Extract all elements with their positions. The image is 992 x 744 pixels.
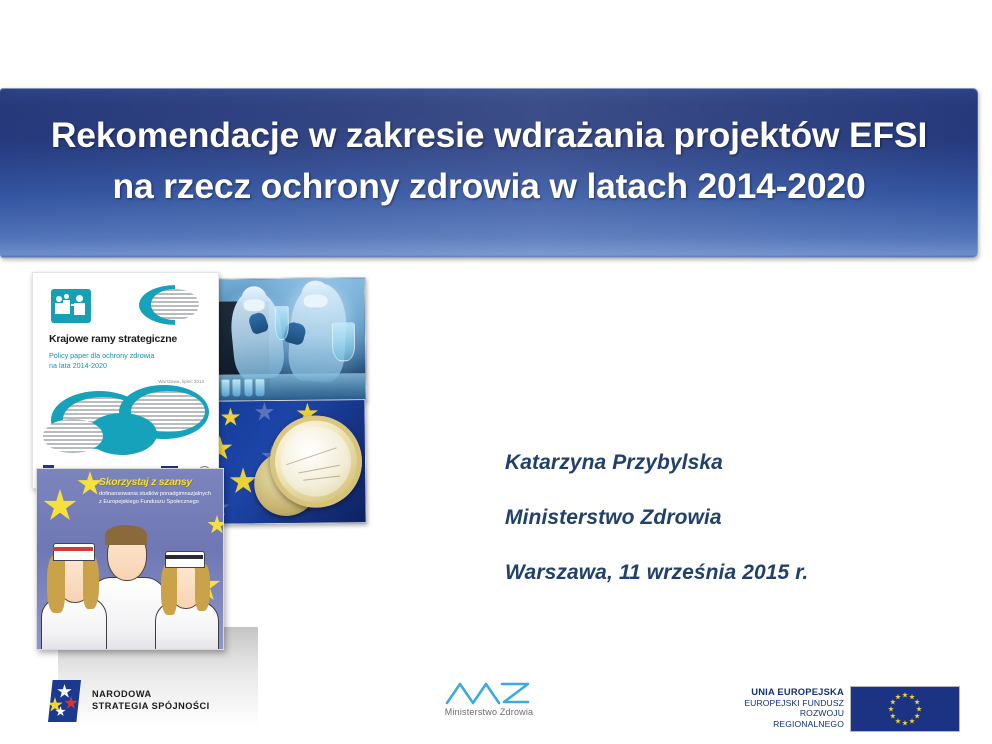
krajowe-cover-title: Krajowe ramy strategiczne (49, 333, 209, 345)
presenter-info: Katarzyna Przybylska Ministerstwo Zdrowi… (505, 435, 945, 600)
cover-graphic-stripes (43, 419, 103, 453)
lab-mask-right (303, 294, 328, 308)
lab-flask (332, 322, 356, 361)
image-collage: Krajowe ramy strategiczne Policy paper d… (18, 272, 388, 672)
eu-flag-star (890, 713, 896, 719)
slide-title: Rekomendacje w zakresie wdrażania projek… (0, 110, 978, 212)
lab-mask-left (243, 299, 265, 311)
health-pictogram-icon (51, 289, 91, 323)
nss-star-white (57, 684, 72, 699)
figure-left-hair (47, 555, 65, 613)
eu-flag-star (888, 706, 894, 712)
booklet-subtitle: dofinansowania studiów ponadgimnazjalnyc… (99, 491, 223, 506)
lab-test-tube (275, 306, 289, 340)
eu-flag-star (895, 718, 901, 724)
eu-flag-star (902, 720, 908, 726)
eu-flag-star (909, 694, 915, 700)
eu-flag-star (914, 713, 920, 719)
ministerstwo-zdrowia-logo: Ministerstwo Zdrowia (424, 680, 554, 728)
figure-right-hair (195, 563, 210, 611)
nss-star-red (64, 696, 78, 710)
presenter-place-date: Warszawa, 11 września 2015 r. (505, 545, 945, 600)
lab-vial (256, 379, 264, 396)
krajowe-ramy-document-cover: Krajowe ramy strategiczne Policy paper d… (32, 272, 219, 489)
figure-left-cap (53, 543, 95, 561)
nss-mark-icon (48, 680, 81, 722)
figure-right-cap-stripe (165, 555, 203, 559)
figure-right-cap (165, 551, 205, 568)
presenter-organization: Ministerstwo Zdrowia (505, 490, 945, 545)
presenter-name: Katarzyna Przybylska (505, 435, 945, 490)
unia-europejska-logo: UNIA EUROPEJSKA EUROPEJSKI FUNDUSZ ROZWO… (730, 686, 960, 732)
eu-flag-star (902, 692, 908, 698)
lab-vial (221, 380, 229, 397)
mz-monogram-icon (444, 680, 534, 706)
lab-vial (244, 379, 252, 396)
mz-logo-caption: Ministerstwo Zdrowia (424, 707, 554, 717)
eu-flag-star (916, 706, 922, 712)
title-banner: Rekomendacje w zakresie wdrażania projek… (0, 88, 978, 258)
skorzystaj-booklet-cover: Skorzystaj z szansy dofinansowania studi… (36, 468, 224, 650)
eu-flag-star (909, 718, 915, 724)
nss-logo-text: NARODOWA STRATEGIA SPÓJNOŚCI (92, 688, 210, 712)
eu-flag-icon (850, 686, 960, 732)
figure-right-hair (161, 563, 177, 615)
eu-logo-line3: ROZWOJU REGIONALNEGO (730, 708, 844, 729)
krajowe-cover-subtitle: Policy paper dla ochrony zdrowia na lata… (49, 351, 199, 371)
krajowe-cover-date: Warszawa, lipiec 2014 (158, 379, 204, 384)
presentation-slide: Rekomendacje w zakresie wdrażania projek… (0, 0, 992, 744)
euro-coin-front (270, 415, 363, 508)
eu-logo-line1: UNIA EUROPEJSKA (730, 687, 844, 698)
figure-center-hair (105, 525, 147, 545)
nss-logo-line2: STRATEGIA SPÓJNOŚCI (92, 700, 210, 712)
narodowa-strategia-spojnosci-logo: NARODOWA STRATEGIA SPÓJNOŚCI (48, 678, 248, 726)
eu-flag-star (890, 699, 896, 705)
figure-left-hair (83, 555, 99, 609)
laboratory-photo (197, 277, 366, 403)
lab-vial (233, 379, 241, 396)
cover-graphic-stripes (151, 289, 199, 320)
booklet-title: Skorzystaj z szansy (99, 476, 221, 488)
figure-left-cap-stripe (53, 547, 93, 551)
eu-logo-text: UNIA EUROPEJSKA EUROPEJSKI FUNDUSZ ROZWO… (730, 687, 844, 729)
eu-flag-star (895, 694, 901, 700)
eu-flag-star (914, 699, 920, 705)
eu-logo-line2: EUROPEJSKI FUNDUSZ (730, 698, 844, 709)
nss-logo-line1: NARODOWA (92, 688, 210, 700)
